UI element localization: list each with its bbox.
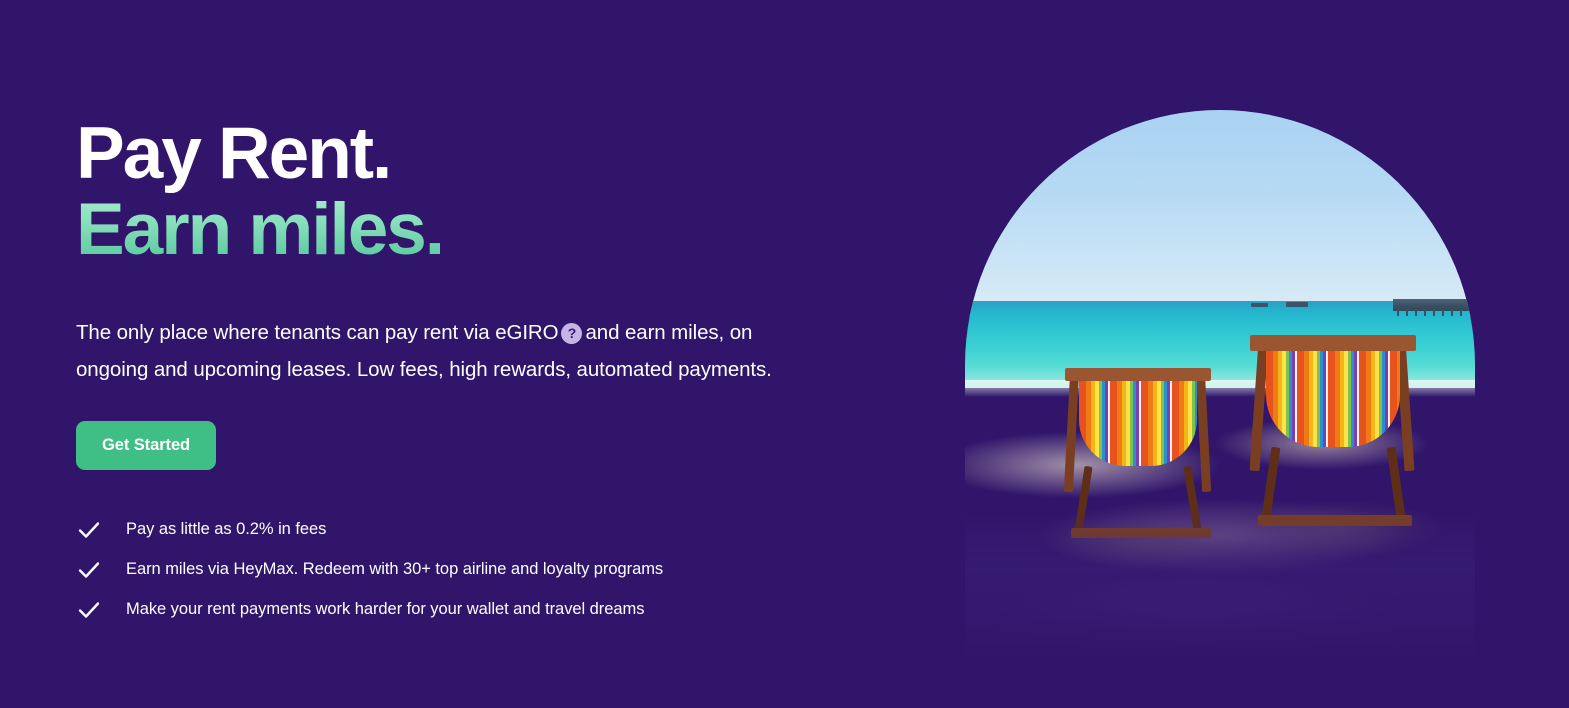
list-item: Earn miles via HeyMax. Redeem with 30+ t… <box>76 550 836 590</box>
feature-label: Pay as little as 0.2% in fees <box>126 520 326 539</box>
question-mark-icon[interactable]: ? <box>561 323 582 344</box>
page-title: Pay Rent. Earn miles. <box>76 118 836 265</box>
chair-fabric <box>1266 351 1400 447</box>
headline-line-2: Earn miles. <box>76 194 836 266</box>
chair-fabric <box>1079 380 1197 466</box>
sky-layer <box>965 110 1475 317</box>
deck-chair-right <box>1246 333 1426 529</box>
list-item: Pay as little as 0.2% in fees <box>76 510 836 550</box>
headline-line-1: Pay Rent. <box>76 118 836 190</box>
hero-subtitle: The only place where tenants can pay ren… <box>76 315 782 389</box>
boat-icon <box>1286 302 1308 307</box>
chair-top-bar <box>1065 368 1211 381</box>
boat-icon <box>1251 303 1268 307</box>
check-icon <box>76 517 102 543</box>
hero-content: Pay Rent. Earn miles. The only place whe… <box>76 118 836 630</box>
feature-label: Earn miles via HeyMax. Redeem with 30+ t… <box>126 560 663 579</box>
feature-label: Make your rent payments work harder for … <box>126 600 644 619</box>
pier-structure <box>1393 299 1475 311</box>
subtitle-text-before-icon: The only place where tenants can pay ren… <box>76 321 558 344</box>
check-icon <box>76 557 102 583</box>
chair-frame <box>1196 372 1211 492</box>
beach-scene <box>965 110 1475 655</box>
list-item: Make your rent payments work harder for … <box>76 590 836 630</box>
check-icon <box>76 597 102 623</box>
hero-section: Pay Rent. Earn miles. The only place whe… <box>0 0 1569 708</box>
bottom-gradient-fade <box>965 508 1475 655</box>
feature-list: Pay as little as 0.2% in fees Earn miles… <box>76 510 836 630</box>
get-started-button[interactable]: Get Started <box>76 421 216 470</box>
chair-frame <box>1064 372 1079 492</box>
chair-top-bar <box>1250 335 1416 351</box>
beach-deck-chairs-arch-image <box>965 110 1475 655</box>
